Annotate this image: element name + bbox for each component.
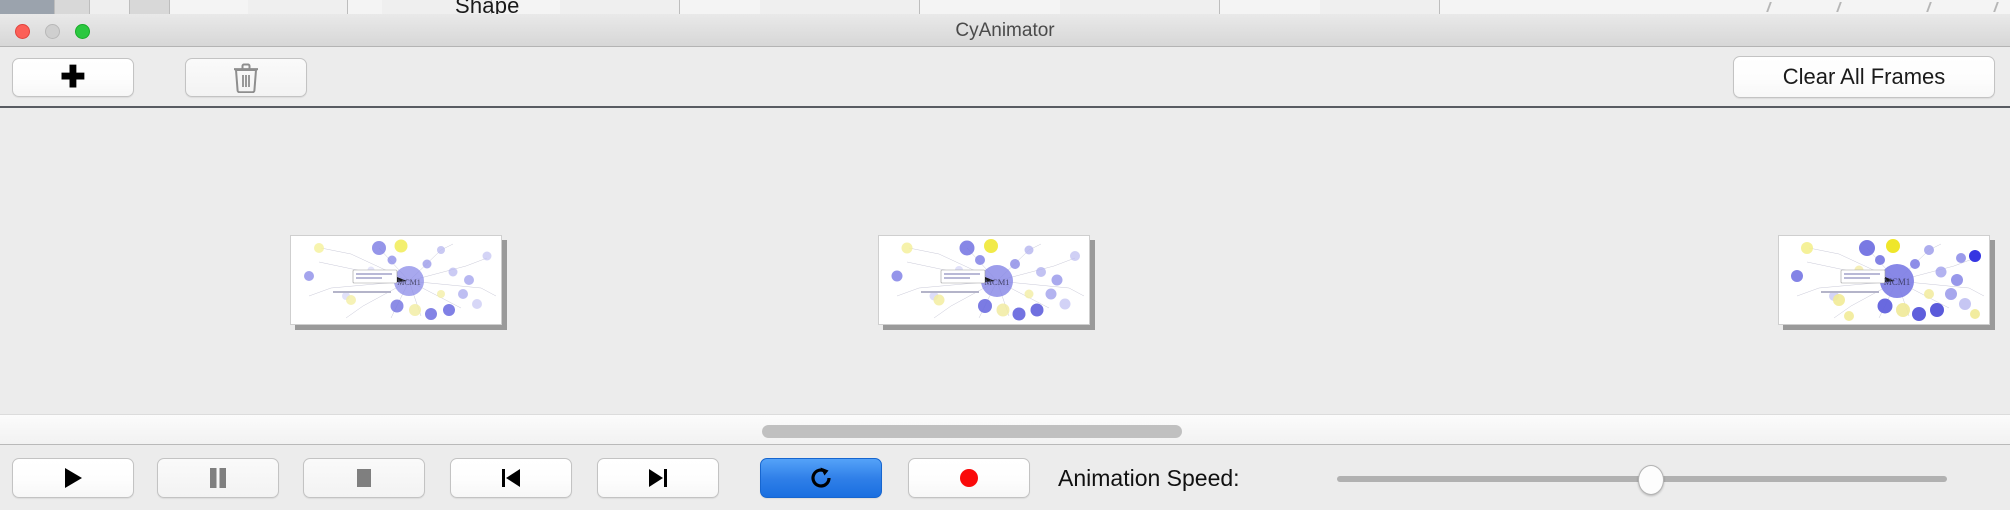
play-icon [62, 466, 84, 490]
horizontal-scrollbar[interactable] [762, 425, 1182, 438]
network-graph-thumbnail: MCM1 [1779, 236, 1990, 325]
network-graph-thumbnail: MCM1 [879, 236, 1090, 325]
svg-text:MCM1: MCM1 [1884, 277, 1911, 287]
frame-toolbar: ✚ Clear All Frames [0, 47, 2010, 108]
frame-thumbnail: MCM1 [290, 235, 502, 325]
skip-back-button[interactable] [450, 458, 572, 498]
svg-text:MCM1: MCM1 [397, 278, 421, 287]
animation-speed-label: Animation Speed: [1058, 458, 1240, 498]
window-title: CyAnimator [0, 14, 2010, 47]
cyanimator-window: Shape CyAnimator ✚ Clear All Frames [0, 0, 2010, 510]
svg-text:MCM1: MCM1 [984, 277, 1009, 287]
animation-speed-slider-thumb[interactable] [1638, 465, 1664, 495]
plus-icon: ✚ [60, 63, 85, 93]
loop-icon [808, 465, 834, 491]
title-bar: CyAnimator [0, 14, 2010, 47]
add-frame-button[interactable]: ✚ [12, 58, 134, 97]
record-button[interactable] [908, 458, 1030, 498]
record-icon [957, 466, 981, 490]
background-window-title: Shape [455, 0, 520, 15]
clear-all-frames-label: Clear All Frames [1783, 64, 1946, 90]
clear-all-frames-button[interactable]: Clear All Frames [1733, 56, 1995, 98]
skip-fwd-button[interactable] [597, 458, 719, 498]
skip-end-icon [646, 466, 670, 490]
skip-start-icon [499, 466, 523, 490]
trash-icon [233, 63, 259, 93]
play-button[interactable] [12, 458, 134, 498]
stop-icon [353, 466, 375, 490]
frame-thumbnail: MCM1 [1778, 235, 1990, 325]
background-window-strip: Shape [0, 0, 2010, 15]
frame-thumbnail: MCM1 [878, 235, 1090, 325]
delete-frame-button[interactable] [185, 58, 307, 97]
playback-bar: Animation Speed: [0, 444, 2010, 510]
timeline-frame-1[interactable]: MCM1 [290, 235, 502, 325]
stop-button[interactable] [303, 458, 425, 498]
scrollbar-track[interactable] [0, 414, 2010, 444]
loop-button[interactable] [760, 458, 882, 498]
pause-button[interactable] [157, 458, 279, 498]
network-graph-thumbnail: MCM1 [291, 236, 502, 325]
timeline-frame-3[interactable]: MCM1 [1778, 235, 1990, 325]
timeline-panel[interactable]: MCM1 [0, 110, 2010, 415]
timeline-frame-2[interactable]: MCM1 [878, 235, 1090, 325]
pause-icon [207, 466, 229, 490]
